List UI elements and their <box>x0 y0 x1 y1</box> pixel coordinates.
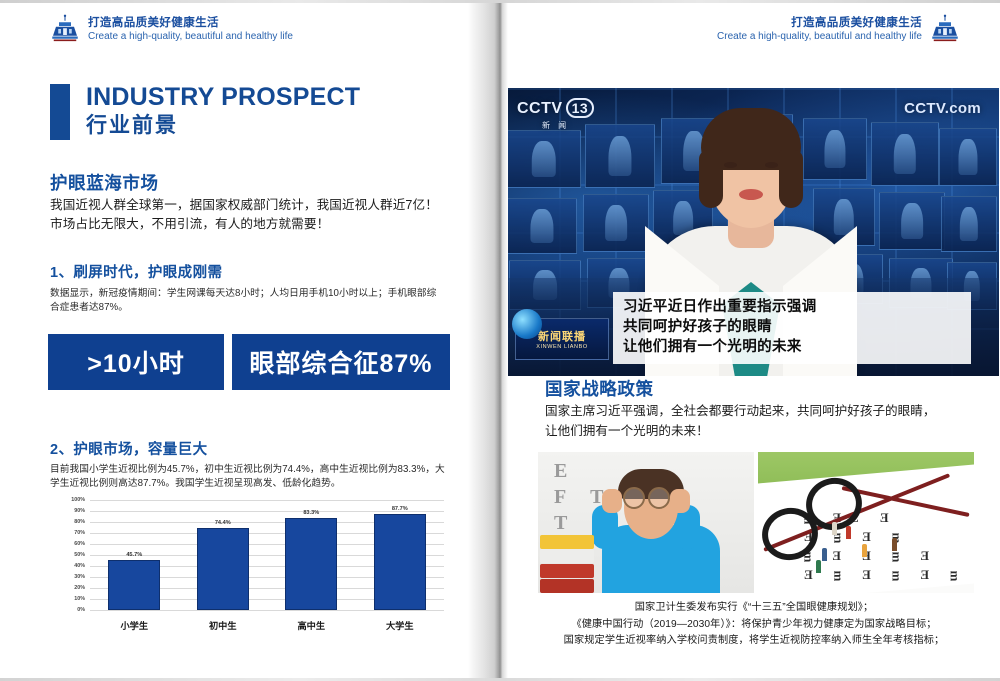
chart-x-label: 小学生 <box>94 618 175 632</box>
boy-glasses-lens-left <box>623 487 645 509</box>
photo-row: E F T P T E P <box>538 452 974 593</box>
policy-line-1: 国家主席习近平强调，全社会都要行动起来，共同呵护好孩子的眼睛， <box>545 402 975 422</box>
cctv-wordmark: CCTV <box>517 100 563 117</box>
chart-bar-column: 83.3% <box>271 500 352 610</box>
chart-bar <box>374 514 426 610</box>
page-title: INDUSTRY PROSPECT 行业前景 <box>50 82 360 140</box>
program-name-cn: 新闻联播 <box>538 328 586 344</box>
cctv-com-watermark: CCTV.com <box>904 100 981 117</box>
header-tagline-en: Create a high-quality, beautiful and hea… <box>717 30 922 43</box>
policy-notes: 国家卫计生委发布实行《“十三五”全国眼健康规划》； 《健康中国行动（2019—2… <box>528 600 980 650</box>
chart-y-tick-label: 90% <box>74 508 85 514</box>
miniature-figure-5 <box>816 560 821 573</box>
policy-line-2: 让他们拥有一个光明的未来！ <box>545 422 975 442</box>
title-english: INDUSTRY PROSPECT <box>86 82 360 112</box>
chart-bar-column: 74.4% <box>182 500 263 610</box>
policy-note-3: 国家规定学生近视率纳入学校问责制度，将学生近视防控率纳入师生全年考核指标； <box>528 633 980 650</box>
heading-national-policy: 国家战略政策 <box>545 376 654 401</box>
xinwen-lianbo-bug: 新闻联播 XINWEN LIANBO <box>515 318 609 360</box>
chart-y-tick-label: 80% <box>74 519 85 525</box>
monitor-screen <box>871 122 939 186</box>
page-edge-top <box>0 0 1000 3</box>
miniature-figure-4 <box>892 538 897 551</box>
chart-bar-value-label: 45.7% <box>126 552 142 558</box>
heading-section-2: 2、护眼市场，容量巨大 <box>50 438 207 459</box>
book-stack <box>540 535 594 593</box>
stat-box-eye-syndrome: 眼部综合征87% <box>232 334 450 390</box>
photo-boy-with-glasses: E F T P T E P <box>538 452 754 593</box>
chart-x-label: 大学生 <box>359 618 440 632</box>
cctv-news-broadcast-photo: CCTV13 新 闻 CCTV.com 新闻联播 XINWEN LIANBO 习… <box>503 88 999 376</box>
myopia-rate-bar-chart: 0%10%20%30%40%50%60%70%80%90%100% 45.7%7… <box>48 492 466 644</box>
book-yellow <box>540 535 594 549</box>
monitor-screen <box>939 128 997 186</box>
paragraph-section-1-line2: 合症患者达87%。 <box>50 301 470 316</box>
anchor-hair-side-left <box>699 150 723 208</box>
chart-y-tick-label: 70% <box>74 530 85 536</box>
chart-y-tick-label: 60% <box>74 541 85 547</box>
chart-bar-column: 87.7% <box>359 500 440 610</box>
book-red <box>540 564 594 578</box>
chart-y-tick-label: 100% <box>71 497 85 503</box>
chart-y-tick-label: 0% <box>77 607 85 613</box>
monitor-screen <box>583 194 649 252</box>
miniature-figure-1 <box>846 526 851 539</box>
stat-boxes: >10小时 眼部综合征87% <box>48 334 450 390</box>
header-tagline-cn: 打造高品质美好健康生活 <box>88 16 293 30</box>
page-gutter <box>468 0 508 681</box>
miniature-figure-3 <box>822 548 827 561</box>
news-caption-lower-third: 习近平近日作出重要指示强调 共同呵护好孩子的眼睛 让他们拥有一个光明的未来 <box>613 292 971 364</box>
chart-y-tick-label: 30% <box>74 574 85 580</box>
monitor-screen <box>879 192 945 250</box>
chart-bars: 45.7%74.4%83.3%87.7% <box>90 500 444 610</box>
header-right-text: 打造高品质美好健康生活 Create a high-quality, beaut… <box>717 16 922 43</box>
paragraph-blue-ocean-line1: 我国近视人群全球第一，据国家权威部门统计，我国近视人群近7亿！ <box>50 196 468 215</box>
chart-x-label: 高中生 <box>271 618 352 632</box>
paragraph-blue-ocean-line2: 市场占比无限大，不用引流，有人的地方就需要！ <box>50 215 468 234</box>
header-tagline-cn: 打造高品质美好健康生活 <box>717 16 922 30</box>
miniature-figure-2 <box>862 544 867 557</box>
title-accent-bar <box>50 84 70 140</box>
anchor-eye-right <box>765 162 778 168</box>
chart-bar <box>108 560 160 610</box>
monitor-screen <box>941 196 997 252</box>
brand-emblem-icon <box>50 14 80 44</box>
boy-glasses-lens-right <box>648 487 670 509</box>
photo-glasses-on-eye-chart: ᴟ ƎE ƎƎ ᴟ Ǝ ᴟᴟ Ǝ Ǝ ᴟ ƎƎ ᴟ Ǝ ᴟ Ǝ ᴟ <box>758 452 974 593</box>
monitor-screen <box>507 130 581 188</box>
paragraph-national-policy: 国家主席习近平强调，全社会都要行动起来，共同呵护好孩子的眼睛， 让他们拥有一个光… <box>545 402 975 441</box>
cctv-channel-sub: 新 闻 <box>542 120 569 131</box>
heading-blue-ocean-market: 护眼蓝海市场 <box>50 170 159 195</box>
policy-note-1: 国家卫计生委发布实行《“十三五”全国眼健康规划》； <box>528 600 980 617</box>
brand-emblem-icon <box>930 14 960 44</box>
chart-y-tick-label: 20% <box>74 585 85 591</box>
header-tagline-en: Create a high-quality, beautiful and hea… <box>88 30 293 43</box>
paragraph-section-2-line1: 目前我国小学生近视比例为45.7%，初中生近视比例为74.4%，高中生近视比例为… <box>50 463 470 478</box>
header-left-text: 打造高品质美好健康生活 Create a high-quality, beaut… <box>88 16 293 43</box>
paragraph-section-2-line2: 学生近视比例则高达87.7%。我国学生近视呈现高发、低龄化趋势。 <box>50 477 470 492</box>
left-page: 打造高品质美好健康生活 Create a high-quality, beaut… <box>0 0 478 681</box>
chart-bar <box>197 528 249 610</box>
boy-hand-left <box>602 489 622 513</box>
globe-icon <box>512 309 542 339</box>
stat-box-screen-time: >10小时 <box>48 334 224 390</box>
chart-bar-value-label: 87.7% <box>392 506 408 512</box>
miniature-figure-6 <box>832 522 837 535</box>
monitor-screen <box>507 198 577 254</box>
book-white <box>540 549 594 563</box>
heading-section-1: 1、刷屏时代，护眼成刚需 <box>50 261 222 282</box>
chart-y-tick-label: 50% <box>74 552 85 558</box>
chart-x-label: 初中生 <box>182 618 263 632</box>
chart-bar-column: 45.7% <box>94 500 175 610</box>
chart-bar-value-label: 83.3% <box>303 510 319 516</box>
anchor-mouth <box>739 189 763 200</box>
chart-gridline: 0% <box>90 610 444 611</box>
right-page: 打造高品质美好健康生活 Create a high-quality, beaut… <box>500 0 1000 681</box>
chart-bar <box>285 518 337 610</box>
caption-line-3: 让他们拥有一个光明的未来 <box>623 337 961 357</box>
brochure-spread: 打造高品质美好健康生活 Create a high-quality, beaut… <box>0 0 1000 681</box>
title-chinese: 行业前景 <box>86 112 360 140</box>
program-name-en: XINWEN LIANBO <box>536 344 588 350</box>
caption-line-2: 共同呵护好孩子的眼睛 <box>623 317 961 337</box>
chart-bar-value-label: 74.4% <box>215 520 231 526</box>
caption-line-1: 习近平近日作出重要指示强调 <box>623 297 961 317</box>
boy-hand-right <box>670 489 690 513</box>
policy-note-2: 《健康中国行动（2019—2030年）》：将保护青少年视力健康定为国家战略目标； <box>528 617 980 634</box>
anchor-eye-left <box>724 162 737 168</box>
chart-plot-area: 0%10%20%30%40%50%60%70%80%90%100% 45.7%7… <box>90 500 444 610</box>
header-right: 打造高品质美好健康生活 Create a high-quality, beaut… <box>717 14 960 44</box>
header-left: 打造高品质美好健康生活 Create a high-quality, beaut… <box>50 14 293 44</box>
anchor-hair-side-right <box>779 150 803 208</box>
book-dark-red <box>540 579 594 593</box>
chart-y-tick-label: 10% <box>74 596 85 602</box>
chart-x-axis-labels: 小学生初中生高中生大学生 <box>90 614 444 636</box>
chart-y-tick-label: 40% <box>74 563 85 569</box>
paragraph-section-1-line1: 数据显示，新冠疫情期间：学生网课每天达8小时；人均日用手机10小时以上；手机眼部… <box>50 287 470 302</box>
cctv-channel-logo: CCTV13 新 闻 <box>517 98 594 131</box>
cctv-channel-number: 13 <box>566 98 595 118</box>
